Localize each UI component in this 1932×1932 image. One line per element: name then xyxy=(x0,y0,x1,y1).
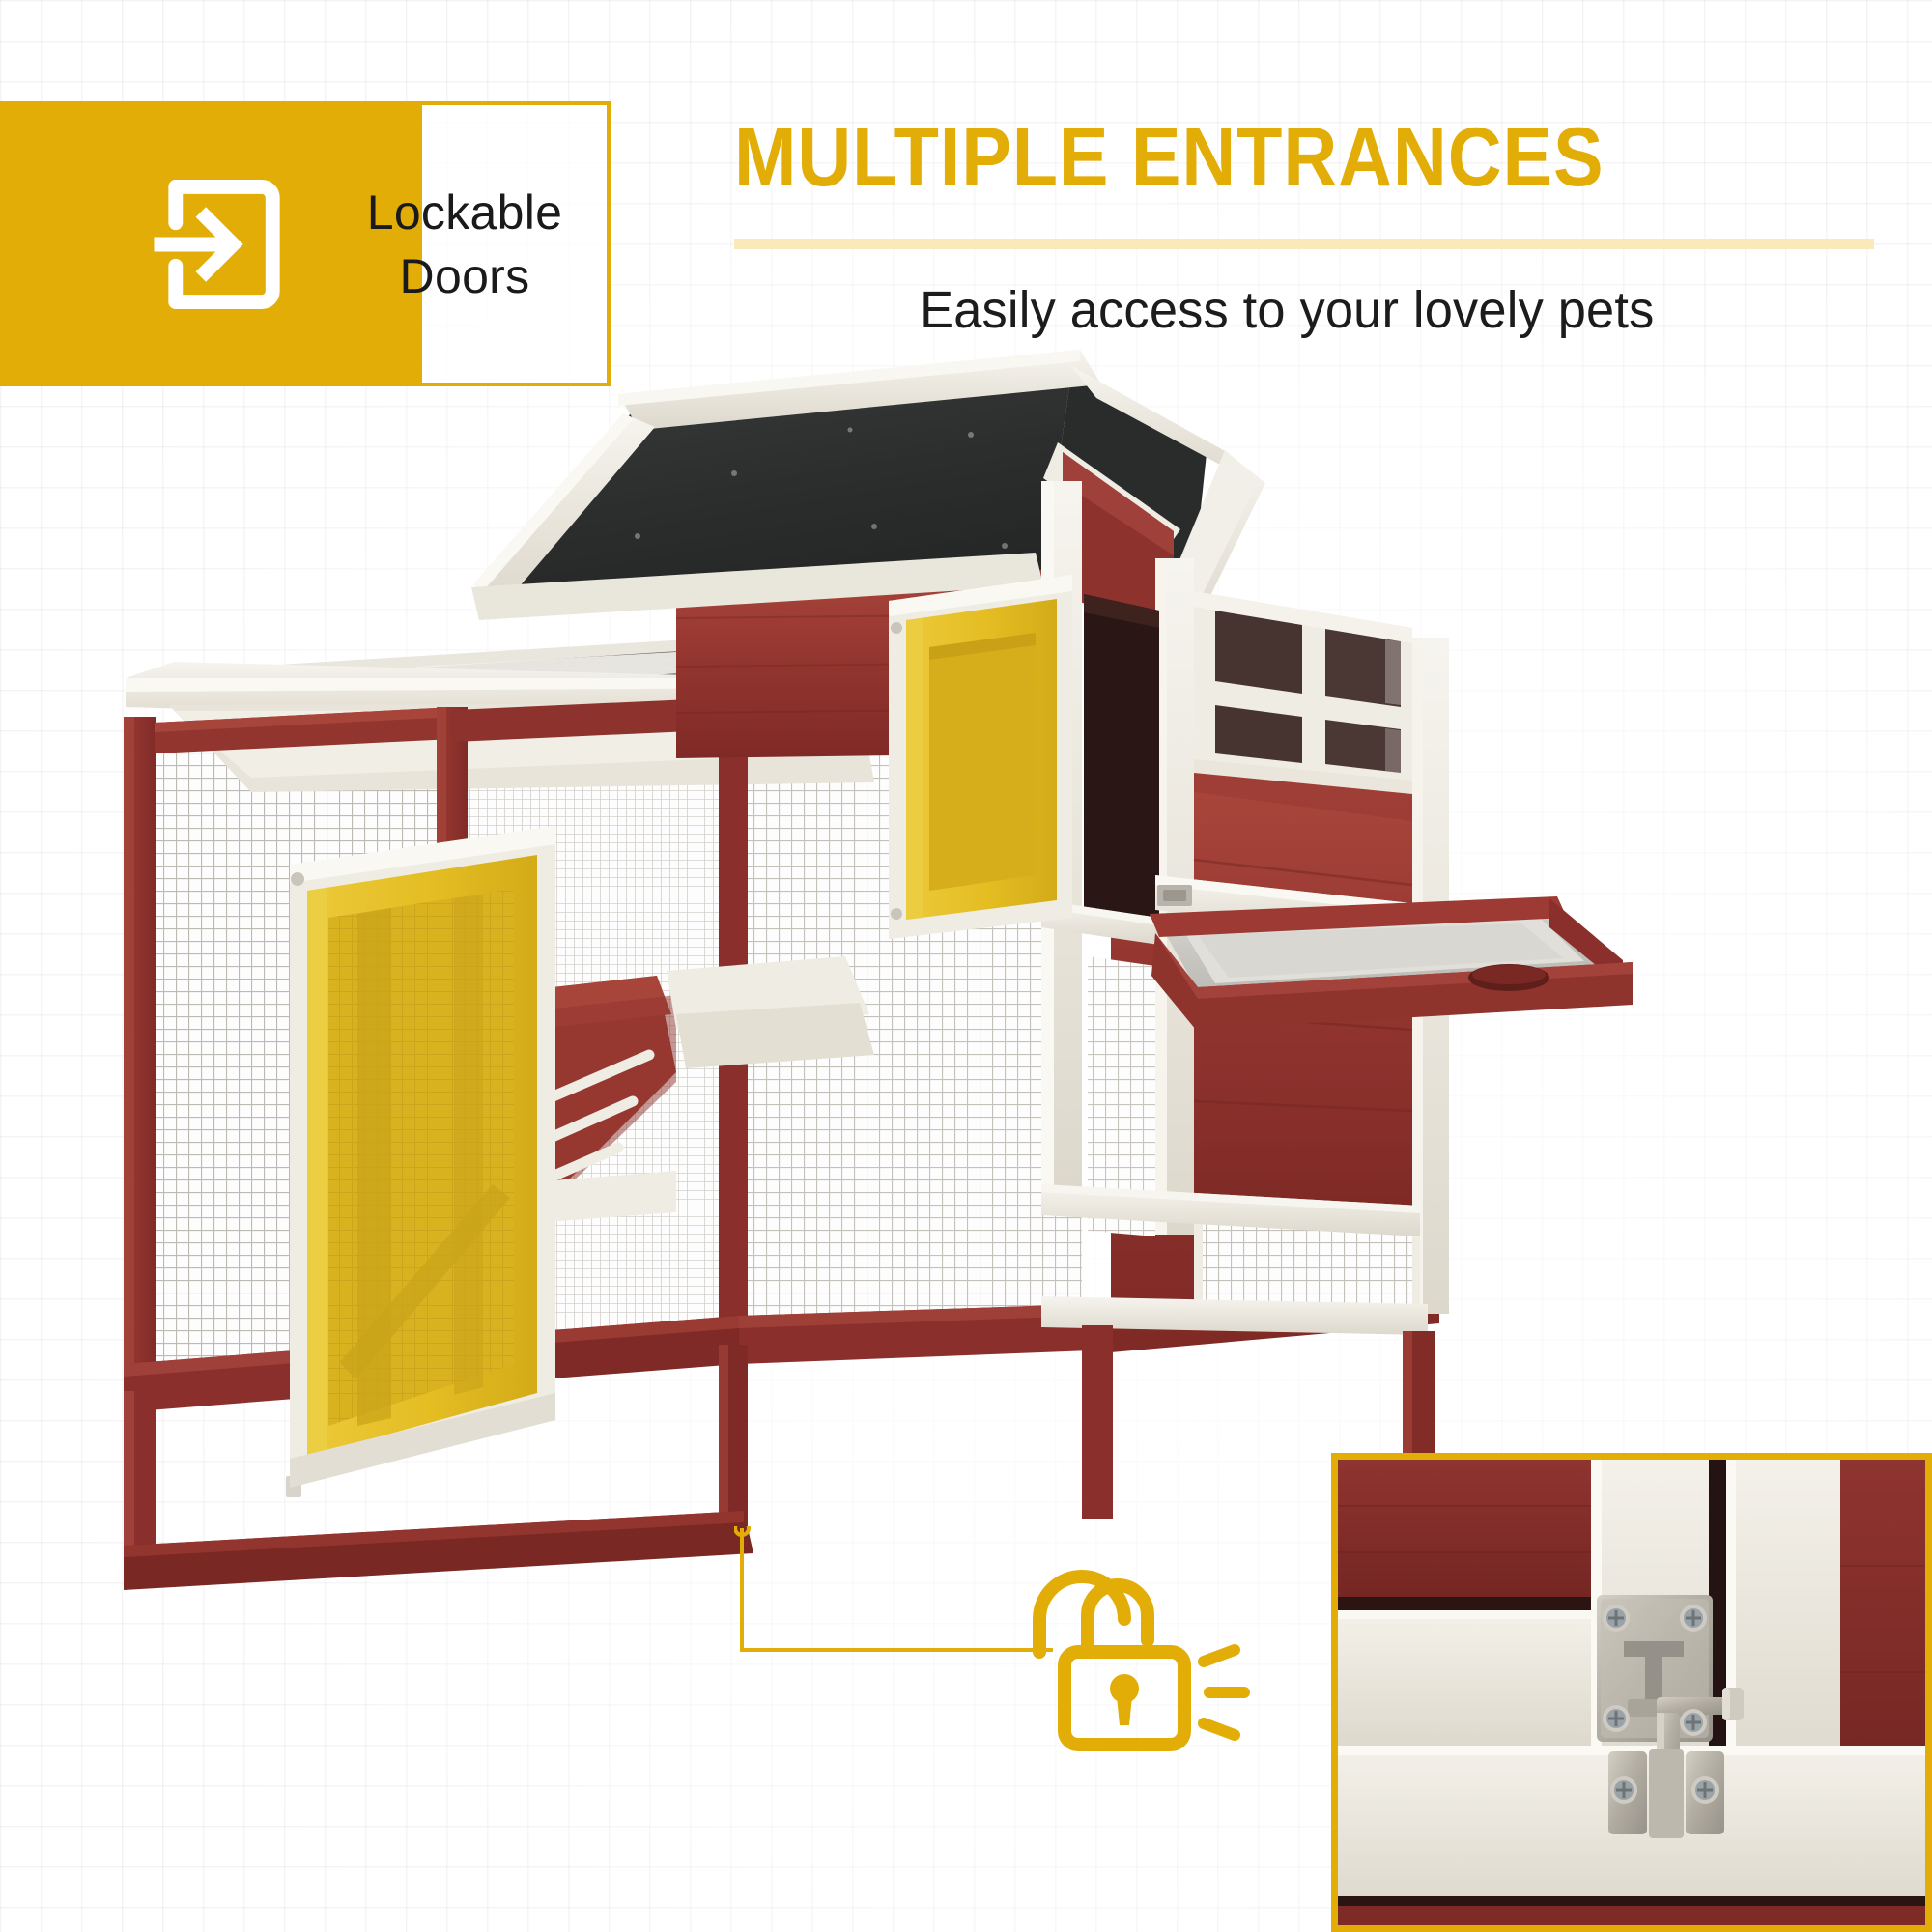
detail-inset-photo xyxy=(1331,1453,1932,1932)
lock-shine-lines xyxy=(1204,1650,1244,1735)
lock-keyhole-icon xyxy=(1110,1674,1139,1725)
page-subtitle: Easily access to your lovely pets xyxy=(734,280,1840,340)
feature-badge-label: Lockable Doors xyxy=(319,101,611,386)
open-padlock-icon xyxy=(1039,1577,1184,1745)
hutch-illustration xyxy=(0,338,1932,1594)
latch-detail-illustration xyxy=(1338,1460,1925,1925)
enter-door-icon xyxy=(122,155,301,334)
lock-callout xyxy=(734,1526,1275,1816)
title-divider xyxy=(734,239,1874,249)
page-title: MULTIPLE ENTRANCES xyxy=(734,116,1760,199)
feature-badge: Lockable Doors xyxy=(0,101,611,386)
callout-graphic xyxy=(734,1526,1275,1816)
header: Lockable Doors MULTIPLE ENTRANCES Easily… xyxy=(0,0,1932,406)
product-image xyxy=(0,338,1932,1594)
